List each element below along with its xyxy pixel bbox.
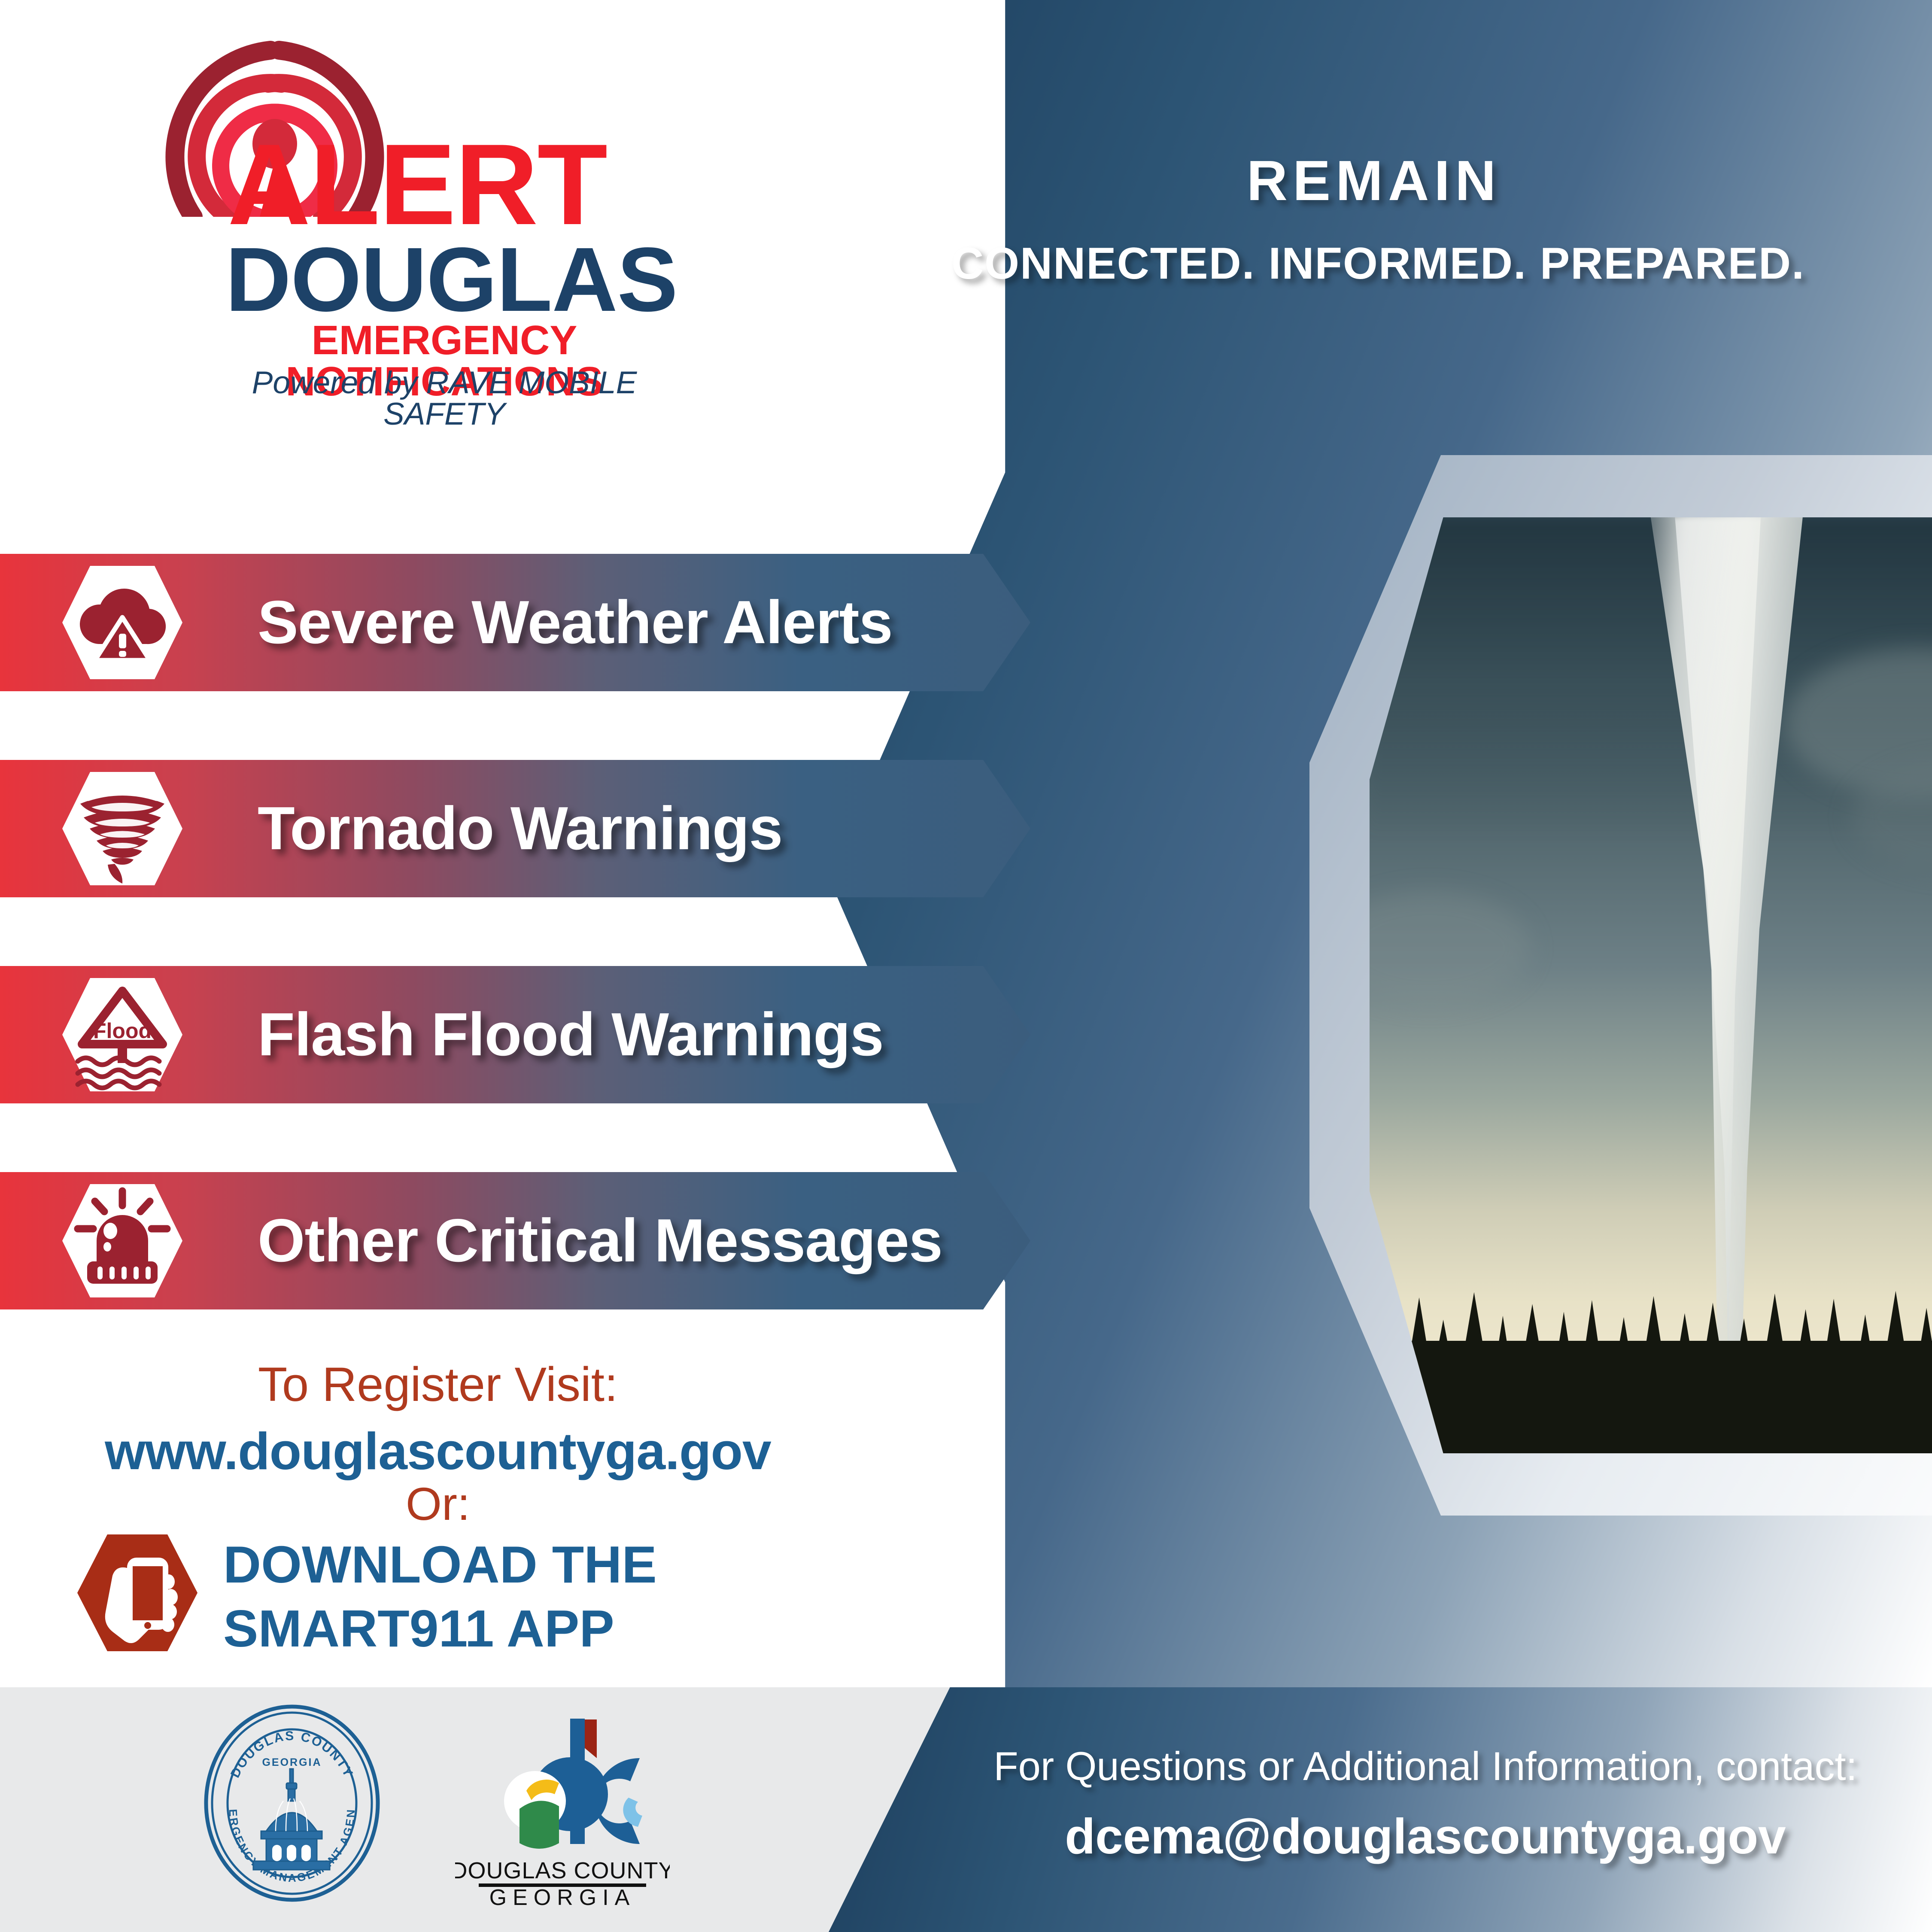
download-app-line2: SMART911 APP bbox=[223, 1597, 781, 1661]
register-prompt: To Register Visit: bbox=[52, 1357, 824, 1412]
register-url[interactable]: www.douglascountyga.gov bbox=[39, 1421, 837, 1481]
alert-row-other-critical[interactable]: Other Critical Messages bbox=[0, 1172, 1030, 1309]
alert-label: Flash Flood Warnings bbox=[258, 999, 884, 1070]
seal-inner-top: GEORGIA bbox=[262, 1756, 322, 1768]
hand-holding-phone-icon bbox=[73, 1528, 202, 1657]
alert-label: Other Critical Messages bbox=[258, 1206, 942, 1276]
siren-icon bbox=[58, 1176, 187, 1305]
header-subtitle: CONNECTED. INFORMED. PREPARED. bbox=[884, 238, 1872, 289]
header-remain: REMAIN bbox=[945, 148, 1803, 213]
logo-alert-text: ALERT bbox=[228, 127, 657, 242]
dc-logo-line2: GEORGIA bbox=[489, 1885, 636, 1908]
alert-label: Tornado Warnings bbox=[258, 793, 782, 864]
footer-questions-text: For Questions or Additional Information,… bbox=[979, 1743, 1872, 1789]
download-app-label: DOWNLOAD THE SMART911 APP bbox=[223, 1533, 781, 1661]
register-or: Or: bbox=[52, 1477, 824, 1531]
poster-root: REMAIN CONNECTED. INFORMED. PREPARED. bbox=[0, 0, 1932, 1932]
flood-sign-icon: Flood bbox=[58, 970, 187, 1099]
cloud-warning-icon bbox=[58, 558, 187, 687]
logo-powered-by: Powered by RAVE MOBILE SAFETY bbox=[225, 367, 663, 430]
tornado-photograph bbox=[1370, 517, 1932, 1453]
dcema-seal-icon: DOUGLAS COUNTY EMERGENCY MANAGEMENT AGEN… bbox=[202, 1702, 382, 1904]
flood-sign-text: Flood bbox=[93, 1019, 152, 1043]
alert-douglas-logo: ALERT DOUGLAS EMERGENCY NOTIFICATIONS Po… bbox=[142, 24, 657, 513]
alert-row-severe-weather[interactable]: Severe Weather Alerts bbox=[0, 554, 1030, 691]
alert-row-flash-flood[interactable]: Flood Flash Flood Warnings bbox=[0, 966, 1030, 1103]
douglas-county-dc-logo: DOUGLAS COUNTY GEORGIA bbox=[455, 1707, 670, 1908]
logo-douglas-text: DOUGLAS bbox=[225, 234, 659, 325]
tornado-icon bbox=[58, 764, 187, 893]
dc-logo-line1: DOUGLAS COUNTY bbox=[455, 1858, 670, 1883]
footer-email[interactable]: dcema@douglascountyga.gov bbox=[979, 1807, 1872, 1865]
alert-row-tornado[interactable]: Tornado Warnings bbox=[0, 760, 1030, 897]
download-app-line1: DOWNLOAD THE bbox=[223, 1533, 781, 1597]
photo-treeline-ground bbox=[1370, 1341, 1932, 1453]
alert-label: Severe Weather Alerts bbox=[258, 587, 893, 658]
